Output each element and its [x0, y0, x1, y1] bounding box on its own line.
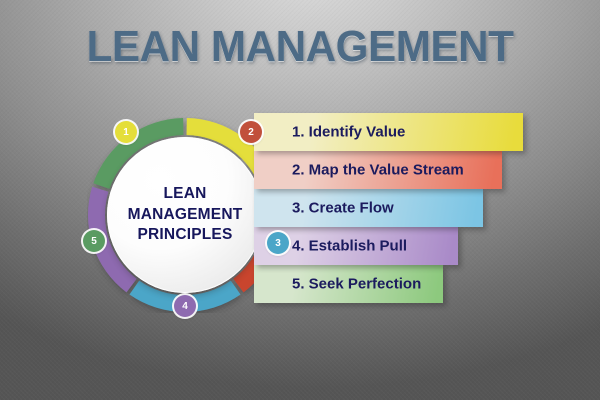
principle-banner[interactable]: 5. Seek Perfection — [254, 265, 443, 303]
step-badge-number: 3 — [275, 238, 281, 249]
step-badge-number: 1 — [123, 127, 129, 138]
step-badge[interactable]: 1 — [115, 121, 137, 143]
step-badge[interactable]: 4 — [174, 295, 196, 317]
step-badge[interactable]: 5 — [83, 230, 105, 252]
step-badge[interactable]: 3 — [267, 232, 289, 254]
donut-center-label: LEAN MANAGEMENT PRINCIPLES — [107, 137, 263, 293]
principle-label: 5. Seek Perfection — [292, 275, 421, 292]
slide-canvas: LEAN MANAGEMENT ickart 1. Identify Value… — [0, 0, 600, 400]
principle-label: 3. Create Flow — [292, 199, 394, 216]
step-badge[interactable]: 2 — [240, 121, 262, 143]
principle-banner[interactable]: 3. Create Flow — [254, 189, 483, 227]
center-line-2: MANAGEMENT — [128, 205, 243, 225]
center-line-1: LEAN — [164, 184, 207, 204]
page-title: LEAN MANAGEMENT — [12, 22, 588, 72]
step-badge-number: 4 — [182, 301, 188, 312]
principle-banner[interactable]: 1. Identify Value — [254, 113, 523, 151]
principle-label: 2. Map the Value Stream — [292, 161, 464, 178]
principle-label: 4. Establish Pull — [292, 237, 407, 254]
step-badge-number: 5 — [91, 236, 97, 247]
center-line-3: PRINCIPLES — [137, 225, 232, 245]
principle-label: 1. Identify Value — [292, 123, 405, 140]
step-badge-number: 2 — [248, 127, 254, 138]
principle-banner[interactable]: 2. Map the Value Stream — [254, 151, 502, 189]
